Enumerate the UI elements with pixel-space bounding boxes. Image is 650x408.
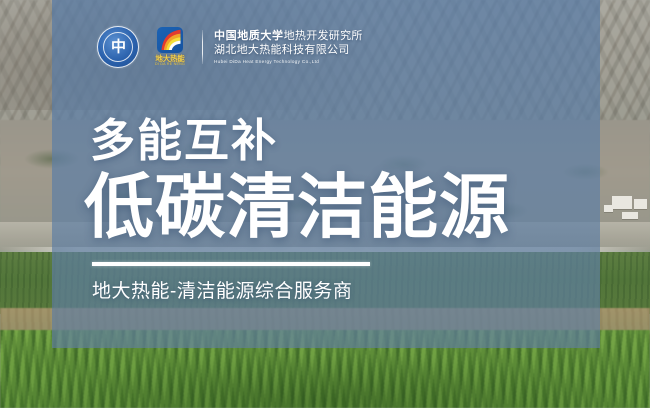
institute-dept-label: 地热开发研究所 (284, 30, 363, 42)
institute-name-label: 中国地质大学 (214, 30, 284, 42)
company-name-en-label: Hubei DiDa Heat Energy Technology Co.,Lt… (214, 59, 363, 65)
headline-small: 多能互补 (90, 118, 278, 163)
vertical-divider-icon (202, 30, 203, 64)
logo-square-icon (157, 27, 183, 53)
photo-building (622, 212, 638, 219)
promo-banner: 中 地大热能 DI DA RE NENG 中国地质大学地热开发研究所 湖北地大热… (0, 0, 650, 408)
company-name-cn-label: 湖北地大热能科技有限公司 (214, 43, 363, 57)
brand-text-block: 中国地质大学地热开发研究所 湖北地大热能科技有限公司 Hubei DiDa He… (214, 30, 363, 65)
institute-line: 中国地质大学地热开发研究所 (214, 30, 363, 44)
hero-subtitle: 地大热能-清洁能源综合服务商 (92, 280, 352, 305)
photo-building (634, 199, 647, 209)
university-emblem-icon: 中 (97, 26, 139, 68)
brand-lockup: 中 地大热能 DI DA RE NENG 中国地质大学地热开发研究所 湖北地大热… (97, 24, 363, 70)
emblem-mark-label: 中 (98, 40, 138, 55)
logo-name-label: 地大热能 (155, 55, 184, 63)
photo-building (604, 205, 613, 212)
headline-large: 低碳清洁能源 (84, 172, 510, 242)
didareneng-rainbow-logo-icon: 地大热能 DI DA RE NENG (148, 27, 192, 67)
logo-pinyin-label: DI DA RE NENG (155, 63, 185, 67)
rainbow-swoosh-icon (160, 29, 182, 51)
horizontal-rule-icon (92, 262, 370, 266)
photo-building (612, 196, 632, 209)
